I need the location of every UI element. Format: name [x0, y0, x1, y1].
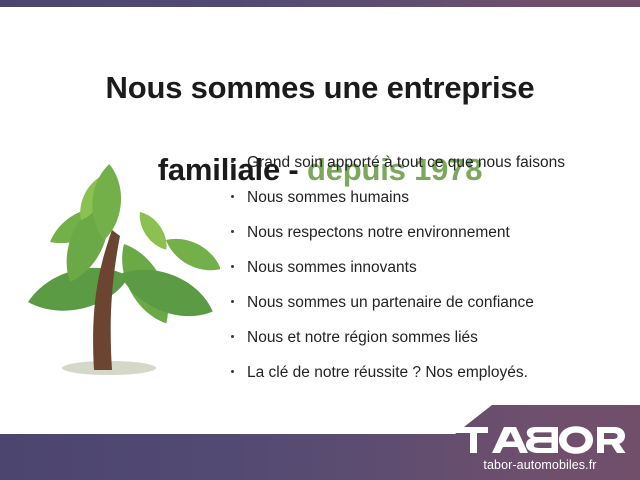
bullet-dot-icon — [231, 160, 234, 163]
leaf — [133, 207, 173, 254]
list-item: Nous sommes humains — [228, 185, 628, 220]
list-item: Nous et notre région sommes liés — [228, 325, 628, 360]
top-accent-bar — [0, 0, 640, 7]
value-proposition-list: Grand soin apporté à tout ce que nous fa… — [228, 150, 628, 395]
bullet-dot-icon — [231, 370, 234, 373]
tree-leaves — [23, 163, 220, 331]
bullet-dot-icon — [231, 195, 234, 198]
bullet-dot-icon — [231, 230, 234, 233]
list-item-label: La clé de notre réussite ? Nos employés. — [247, 364, 528, 381]
brand-logo-block[interactable]: tabor-automobiles.fr — [454, 424, 626, 472]
list-item-label: Grand soin apporté à tout ce que nous fa… — [247, 154, 565, 171]
leaf — [161, 230, 220, 279]
list-item: Nous sommes innovants — [228, 255, 628, 290]
tabor-wordmark-icon — [454, 424, 626, 456]
headline-line-1: Nous sommes une entreprise — [0, 67, 640, 108]
footer-bar: tabor-automobiles.fr — [0, 400, 640, 480]
list-item: Nous sommes un partenaire de confiance — [228, 290, 628, 325]
list-item: Grand soin apporté à tout ce que nous fa… — [228, 150, 628, 185]
list-item-label: Nous sommes innovants — [247, 259, 417, 276]
list-item: La clé de notre réussite ? Nos employés. — [228, 360, 628, 395]
list-item-label: Nous sommes un partenaire de confiance — [247, 294, 534, 311]
list-item-label: Nous respectons notre environnement — [247, 224, 510, 241]
list-item-label: Nous et notre région sommes liés — [247, 329, 478, 346]
bullet-dot-icon — [231, 335, 234, 338]
tree-icon — [8, 152, 220, 382]
bullet-dot-icon — [231, 300, 234, 303]
list-item-label: Nous sommes humains — [247, 189, 409, 206]
slide-canvas: Nous sommes une entreprise familiale - d… — [0, 0, 640, 480]
bullet-dot-icon — [231, 265, 234, 268]
list-item: Nous respectons notre environnement — [228, 220, 628, 255]
brand-url-label: tabor-automobiles.fr — [454, 458, 626, 472]
